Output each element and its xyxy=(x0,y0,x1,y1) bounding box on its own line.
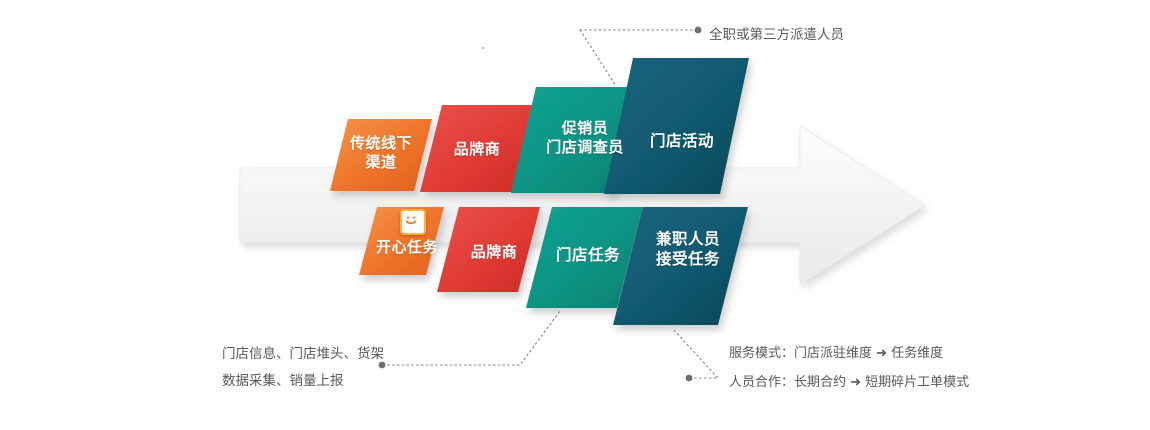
diagram-svg xyxy=(0,0,1150,430)
connector-left xyxy=(383,311,560,365)
annotation-bottom-right-line1: 服务模式：门店派驻维度 ➜ 任务维度 xyxy=(729,341,943,366)
annotation-bottom-left-line1: 门店信息、门店堆头、货架 xyxy=(222,341,384,367)
connector-top-diag xyxy=(580,30,616,86)
top-row-shapes xyxy=(330,58,749,194)
annotation-bottom-right-line2: 人员合作：长期合约 ➜ 短期碎片工单模式 xyxy=(729,370,969,395)
happy-face-icon xyxy=(400,209,426,235)
connector-dot-top xyxy=(695,27,702,34)
annotation-bottom-left-line2: 数据采集、销量上报 xyxy=(222,368,344,394)
stray-speck xyxy=(482,47,484,49)
connector-dot-right xyxy=(686,375,693,382)
diagram-canvas: 传统线下 渠道 品牌商 促销员 门店调查员 门店活动 开心任务 品牌商 门店任务… xyxy=(0,0,1150,430)
annotation-top-right: 全职或第三方派遣人员 xyxy=(709,22,844,48)
connector-right xyxy=(672,328,718,378)
